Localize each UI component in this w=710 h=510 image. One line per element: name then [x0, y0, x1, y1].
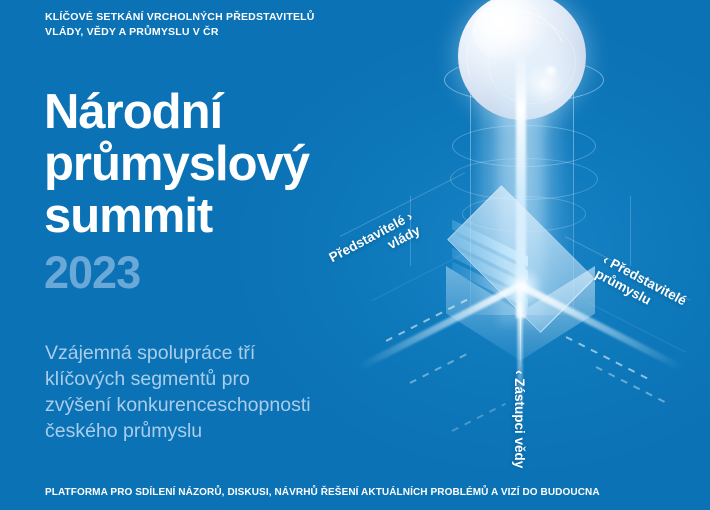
- chevron-right-icon: ›: [404, 209, 415, 224]
- footer-tagline: Platforma pro sdílení názorů, diskusi, n…: [45, 487, 685, 498]
- dashed-accent-4: [410, 350, 473, 384]
- guide-line-vertical-right: [630, 196, 631, 266]
- title-line-1: Národní: [44, 86, 384, 138]
- subtitle-line-4: českého průmyslu: [45, 418, 365, 444]
- eyebrow-line-1: Klíčové setkání vrcholných představitelů: [45, 10, 375, 25]
- chevron-up-icon: ‹: [512, 370, 527, 375]
- subtitle-line-3: zvýšení konkurenceschopnosti: [45, 392, 365, 418]
- label-science: ‹ Zástupci vědy: [511, 370, 527, 468]
- page-title: Národní průmyslový summit: [44, 86, 384, 242]
- title-line-3: summit: [44, 190, 384, 242]
- label-science-text: Zástupci vědy: [512, 378, 527, 468]
- subtitle-text: Vzájemná spolupráce tří klíčových segmen…: [45, 340, 365, 444]
- year-label: 2023: [44, 248, 140, 298]
- eyebrow-text: Klíčové setkání vrcholných představitelů…: [45, 10, 375, 40]
- dashed-accent-3: [596, 366, 666, 403]
- title-line-2: průmyslový: [44, 138, 384, 190]
- poster-canvas: Představitelé › vlády ‹ Představitelé pr…: [0, 0, 710, 510]
- eyebrow-line-2: vlády, vědy a průmyslu v ČR: [45, 25, 375, 40]
- sphere-sparkle: [544, 64, 558, 78]
- beam-core-glow: [500, 268, 544, 304]
- dashed-accent-5: [452, 403, 506, 432]
- subtitle-line-1: Vzájemná spolupráce tří: [45, 340, 365, 366]
- subtitle-line-2: klíčových segmentů pro: [45, 366, 365, 392]
